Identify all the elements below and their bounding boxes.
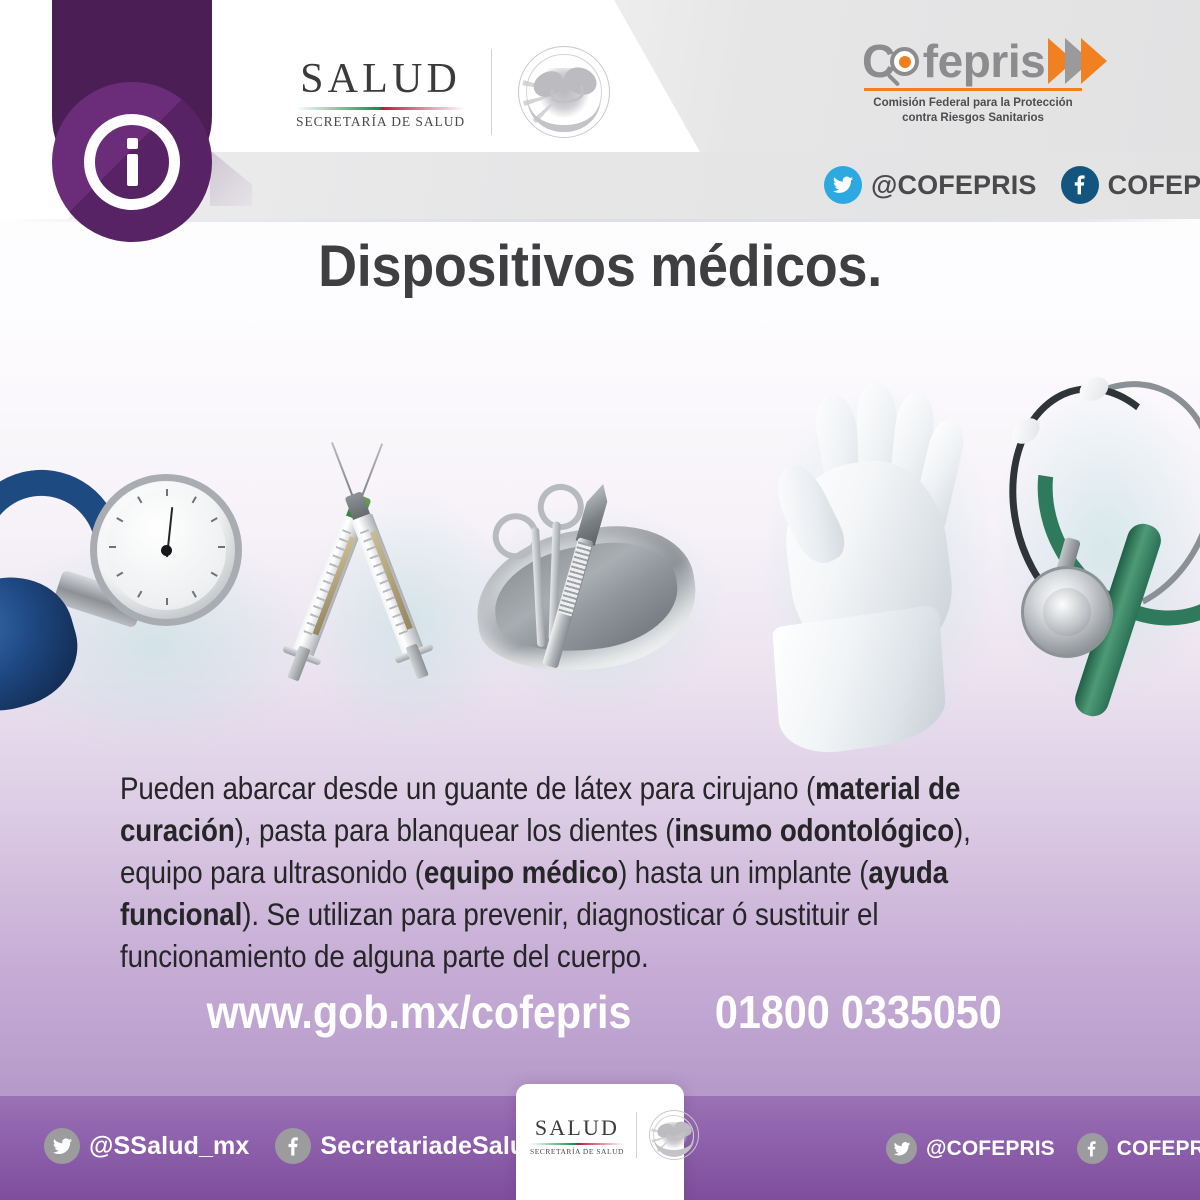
header-social-links: @COFEPRIS COFEPRIS [824,166,1200,204]
info-icon [52,82,212,242]
body-text-emphasis: insumo odontológico [674,812,954,848]
twitter-link-header[interactable]: @COFEPRIS [824,166,1037,204]
footer-social-right: @COFEPRIS COFEPRIS [886,1133,1200,1164]
magnifier-icon [890,47,919,76]
kidney-dish-image [470,470,700,680]
chevron-arrows-icon [1048,38,1097,84]
body-text: Pueden abarcar desde un guante de látex … [120,768,982,977]
footer-logo-card: SALUD SECRETARÍA DE SALUD [516,1084,684,1200]
salud-tricolor-rule [296,107,465,110]
twitter-icon [886,1133,917,1164]
contact-line: www.gob.mx/cofepris 01800 0335050 [0,985,1200,1039]
facebook-link-header[interactable]: COFEPRIS [1061,166,1200,204]
salud-logo-footer: SALUD SECRETARÍA DE SALUD [530,1110,699,1160]
medical-devices-illustration [0,350,1200,750]
salud-subtitle-footer: SECRETARÍA DE SALUD [530,1147,624,1156]
mexican-seal-icon-footer [649,1110,699,1160]
latex-glove-image [770,370,980,750]
phone-number[interactable]: 01800 0335050 [715,985,1002,1039]
twitter-handle-header: @COFEPRIS [871,170,1037,201]
syringe-image-2 [339,481,435,685]
salud-wordmark-footer: SALUD [530,1115,624,1141]
twitter-link-salud[interactable]: @SSalud_mx [44,1128,249,1164]
mexican-seal-icon [518,46,610,138]
footer-social-left: @SSalud_mx SecretariadeSaludMX [44,1128,578,1164]
body-text-run: ), pasta para blanquear los dientes ( [235,812,675,848]
infographic-poster: SALUD SECRETARÍA DE SALUD Cfepris Comisi… [0,0,1200,1200]
salud-subtitle: SECRETARÍA DE SALUD [296,114,465,130]
sphygmomanometer-image [0,460,260,750]
body-text-run: ) hasta un implante ( [618,854,868,890]
facebook-handle-cofepris-footer: COFEPRIS [1117,1137,1200,1161]
twitter-icon [44,1128,80,1164]
twitter-icon [824,166,862,204]
page-title: Dispositivos médicos. [42,233,1158,300]
logo-divider [491,49,492,135]
facebook-link-cofepris-footer[interactable]: COFEPRIS [1077,1133,1200,1164]
facebook-icon [275,1128,311,1164]
twitter-handle-cofepris-footer: @COFEPRIS [926,1137,1055,1161]
cofepris-subtitle: Comisión Federal para la Protección cont… [864,96,1082,125]
salud-logo-header: SALUD SECRETARÍA DE SALUD [296,46,610,138]
twitter-handle-salud: @SSalud_mx [89,1132,249,1161]
cofepris-logo: Cfepris Comisión Federal para la Protecc… [862,38,1162,125]
website-link[interactable]: www.gob.mx/cofepris [206,985,631,1039]
body-text-run: Pueden abarcar desde un guante de látex … [120,770,815,806]
cofepris-wordmark: Cfepris [862,38,1045,84]
facebook-handle-header: COFEPRIS [1108,170,1200,201]
salud-wordmark: SALUD [296,55,465,103]
stethoscope-image [1005,370,1200,700]
body-text-emphasis: equipo médico [424,854,618,890]
facebook-icon [1061,166,1099,204]
cofepris-rule [864,88,1082,91]
facebook-icon [1077,1133,1108,1164]
logo-divider-footer [636,1112,637,1158]
salud-tricolor-rule-footer [530,1143,624,1145]
twitter-link-cofepris-footer[interactable]: @COFEPRIS [886,1133,1055,1164]
